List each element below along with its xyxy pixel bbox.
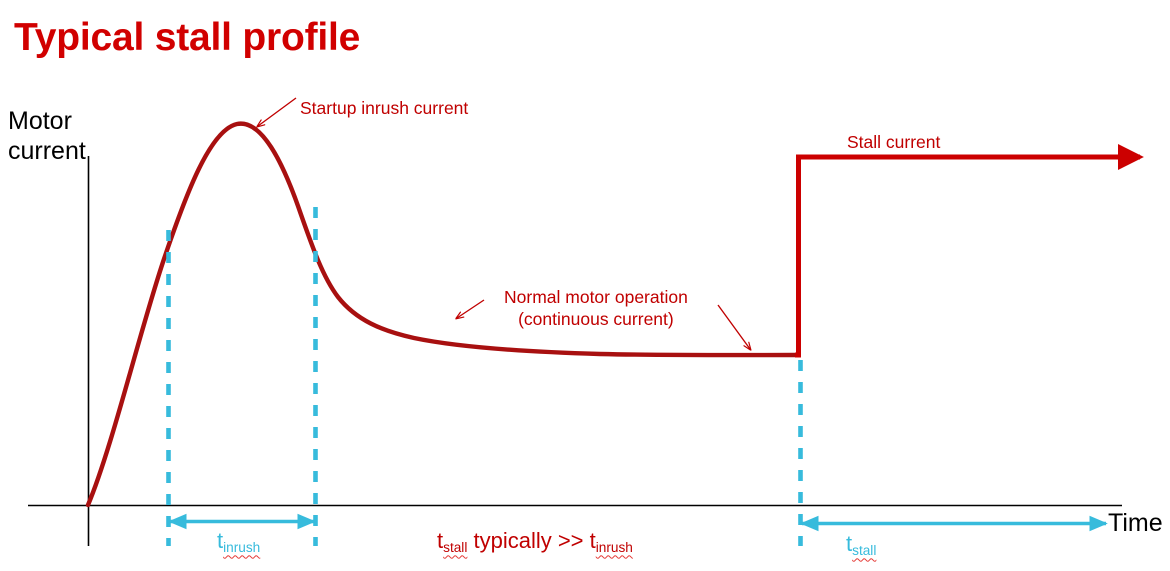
relation-t-stall-subscript: stall	[443, 540, 467, 555]
x-axis-label: Time	[1108, 508, 1163, 538]
stall-current-line	[795, 157, 1140, 355]
leader-arrow-inrush	[258, 98, 296, 126]
label-t-stall: tstall	[846, 531, 876, 557]
leader-arrow-normal-right	[718, 305, 750, 349]
y-axis-label: Motor current	[8, 106, 86, 166]
y-axis-label-line2: current	[8, 136, 86, 166]
relation-t-inrush-base: t	[590, 528, 596, 553]
annotation-normal-line2: (continuous current)	[504, 308, 688, 330]
relation-t-inrush-subscript: inrush	[596, 540, 633, 555]
label-t-inrush: tinrush	[217, 528, 260, 554]
motor-current-curve	[88, 124, 795, 505]
page-title: Typical stall profile	[14, 16, 360, 60]
annotation-normal-motor-operation: Normal motor operation (continuous curre…	[504, 286, 688, 330]
y-axis-label-line1: Motor	[8, 106, 86, 136]
label-t-inrush-subscript: inrush	[223, 540, 260, 555]
relation-middle-text: typically >>	[467, 528, 589, 553]
label-t-stall-subscript: stall	[852, 543, 876, 558]
annotation-normal-line1: Normal motor operation	[504, 286, 688, 308]
annotation-stall-current: Stall current	[847, 131, 940, 153]
diagram-canvas: Typical stall profile Motor current Time…	[0, 0, 1170, 571]
leader-arrow-normal-left	[457, 300, 484, 318]
annotation-startup-inrush-current: Startup inrush current	[300, 97, 468, 119]
relation-t-stall-vs-t-inrush: tstall typically >> tinrush	[437, 528, 633, 554]
